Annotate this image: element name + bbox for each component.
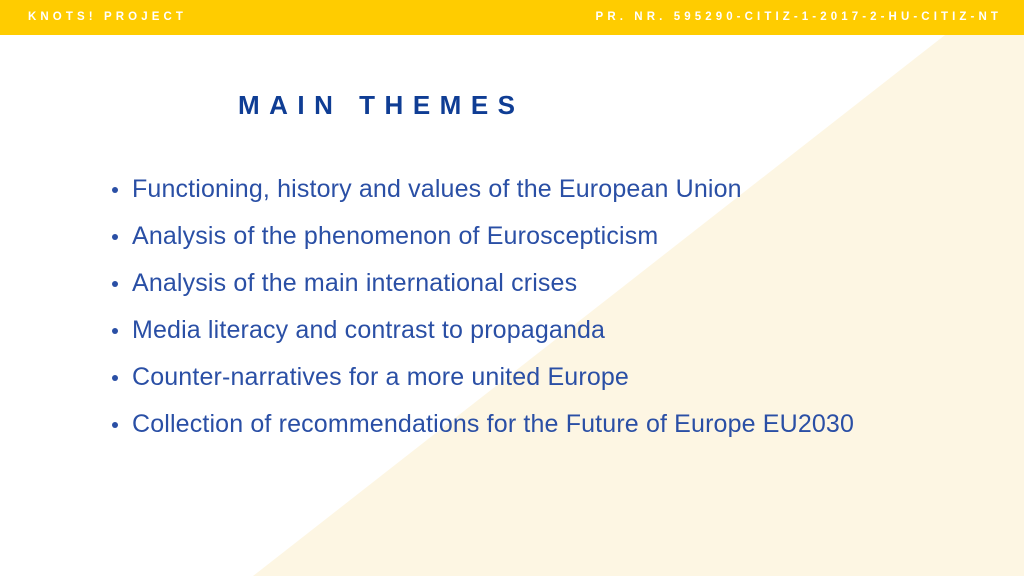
page-title: MAIN THEMES xyxy=(238,90,525,121)
main-themes-list: Functioning, history and values of the E… xyxy=(108,173,958,455)
bullet-icon xyxy=(112,422,118,428)
project-name-label: KNOTS! PROJECT xyxy=(28,0,187,35)
list-item: Media literacy and contrast to propagand… xyxy=(108,314,958,347)
bullet-icon xyxy=(112,281,118,287)
bullet-icon xyxy=(112,234,118,240)
list-item: Analysis of the phenomenon of Euroscepti… xyxy=(108,220,958,253)
list-item-label: Media literacy and contrast to propagand… xyxy=(132,314,958,347)
presentation-slide: KNOTS! PROJECT PR. NR. 595290-CITIZ-1-20… xyxy=(0,0,1024,576)
list-item: Analysis of the main international crise… xyxy=(108,267,958,300)
list-item: Counter-narratives for a more united Eur… xyxy=(108,361,958,394)
project-number-label: PR. NR. 595290-CITIZ-1-2017-2-HU-CITIZ-N… xyxy=(596,0,1002,35)
bullet-icon xyxy=(112,328,118,334)
list-item-label: Analysis of the main international crise… xyxy=(132,267,958,300)
bullet-icon xyxy=(112,187,118,193)
bullet-icon xyxy=(112,375,118,381)
list-item-label: Analysis of the phenomenon of Euroscepti… xyxy=(132,220,958,253)
list-item-label: Counter-narratives for a more united Eur… xyxy=(132,361,958,394)
list-item-label: Functioning, history and values of the E… xyxy=(132,173,958,206)
slide-header-bar: KNOTS! PROJECT PR. NR. 595290-CITIZ-1-20… xyxy=(0,0,1024,35)
list-item: Functioning, history and values of the E… xyxy=(108,173,958,206)
list-item-label: Collection of recommendations for the Fu… xyxy=(132,408,958,441)
list-item: Collection of recommendations for the Fu… xyxy=(108,408,958,441)
